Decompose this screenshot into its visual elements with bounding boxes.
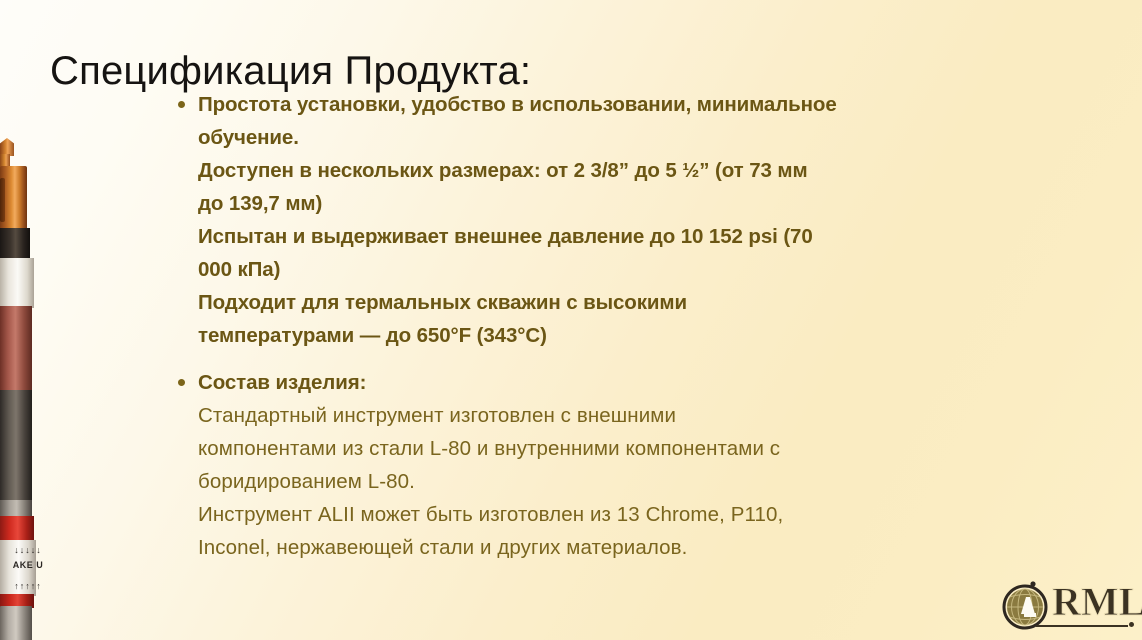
bullet-line: до 139,7 мм) — [198, 187, 992, 220]
bullet-dot-icon — [178, 379, 185, 386]
bullet-line: Доступен в нескольких размерах: от 2 3/8… — [198, 154, 992, 187]
bullet-block: Простота установки, удобство в использов… — [172, 88, 992, 352]
bullet-heading: Состав изделия: — [198, 366, 992, 399]
bullet-line: Простота установки, удобство в использов… — [198, 88, 992, 121]
tool-band-arrows-bottom: ↑↑↑↑↑ — [11, 581, 45, 592]
globe-derrick-icon — [1000, 578, 1054, 632]
bullet-line: Испытан и выдерживает внешнее давление д… — [198, 220, 992, 253]
bullet-line: компонентами из стали L-80 и внутренними… — [198, 432, 992, 465]
slide-canvas: Спецификация Продукта: ↓↓↓↓↓ AKE U ↑↑↑↑↑… — [0, 0, 1142, 640]
logo-underline — [1036, 625, 1128, 627]
logo-end-dot — [1129, 622, 1134, 627]
tool-band-arrows-top: ↓↓↓↓↓ — [11, 545, 45, 556]
downhole-tool-photo: ↓↓↓↓↓ AKE U ↑↑↑↑↑ — [0, 138, 60, 640]
tool-lower-body — [0, 606, 32, 640]
bullet-line: Подходит для термальных скважин с высоки… — [198, 286, 992, 319]
tool-red-body — [0, 306, 32, 392]
bullet-line: Инструмент ALII может быть изготовлен из… — [198, 498, 992, 531]
tool-red-ring-upper — [0, 516, 34, 542]
bullet-line: обучение. — [198, 121, 992, 154]
bullet-line: боридированием L-80. — [198, 465, 992, 498]
content-body: Простота установки, удобство в использов… — [172, 88, 992, 564]
bullet-line: Стандартный инструмент изготовлен с внеш… — [198, 399, 992, 432]
tool-band-label: AKE U — [10, 560, 46, 570]
bullet-block: Состав изделия: Стандартный инструмент и… — [172, 366, 992, 564]
tool-white-band-upper — [0, 258, 34, 308]
bullet-dot-icon — [178, 101, 185, 108]
tool-dark-body — [0, 390, 32, 502]
tool-slot — [0, 178, 5, 222]
bullet-line: 000 кПа) — [198, 253, 992, 286]
bullet-line: Inconel, нержавеющей стали и других мате… — [198, 531, 992, 564]
logo-wordmark: RML — [1052, 582, 1142, 622]
rml-logo: RML — [996, 572, 1136, 638]
tool-black-band — [0, 228, 30, 260]
bullet-line: температурами — до 650°F (343°C) — [198, 319, 992, 352]
